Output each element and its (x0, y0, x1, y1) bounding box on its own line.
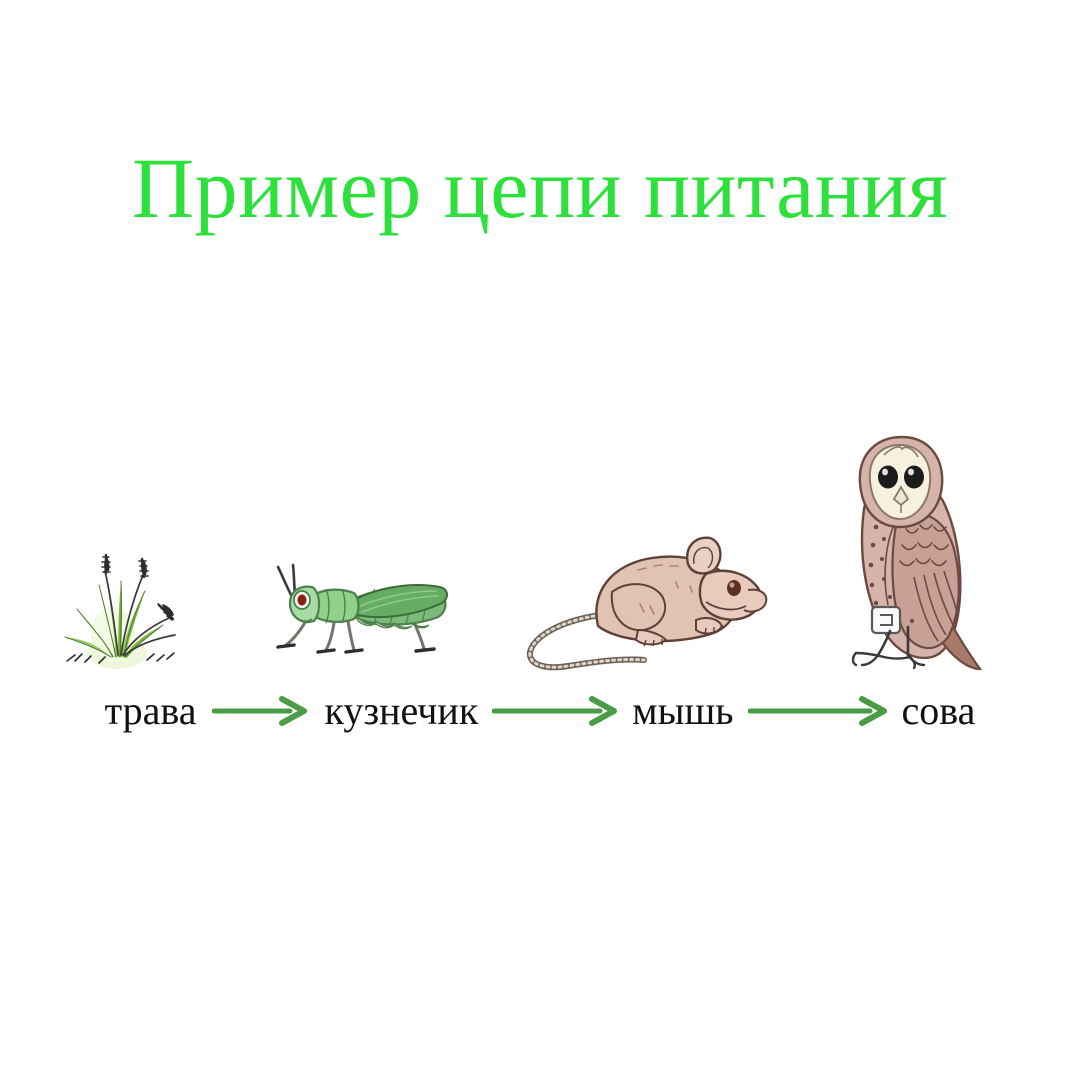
arrow-grass-to-grasshopper (212, 696, 308, 726)
chain-label-grasshopper: кузнечик (324, 688, 478, 734)
food-chain-sequence: трава кузнечик мышь сова (0, 683, 1080, 739)
owl-illustration (840, 425, 1015, 675)
food-chain-diagram: Пример цепи питания (0, 0, 1080, 1080)
chain-label-mouse: мышь (632, 688, 733, 734)
arrow-grasshopper-to-mouse (492, 696, 618, 726)
chain-label-owl: сова (902, 688, 976, 734)
chain-label-grass: трава (105, 688, 197, 734)
grass-illustration (55, 545, 200, 675)
grasshopper-illustration (262, 555, 462, 675)
page-title: Пример цепи питания (0, 138, 1080, 238)
mouse-illustration (520, 530, 770, 675)
arrow-mouse-to-owl (748, 696, 888, 726)
illustration-row (0, 415, 1080, 675)
